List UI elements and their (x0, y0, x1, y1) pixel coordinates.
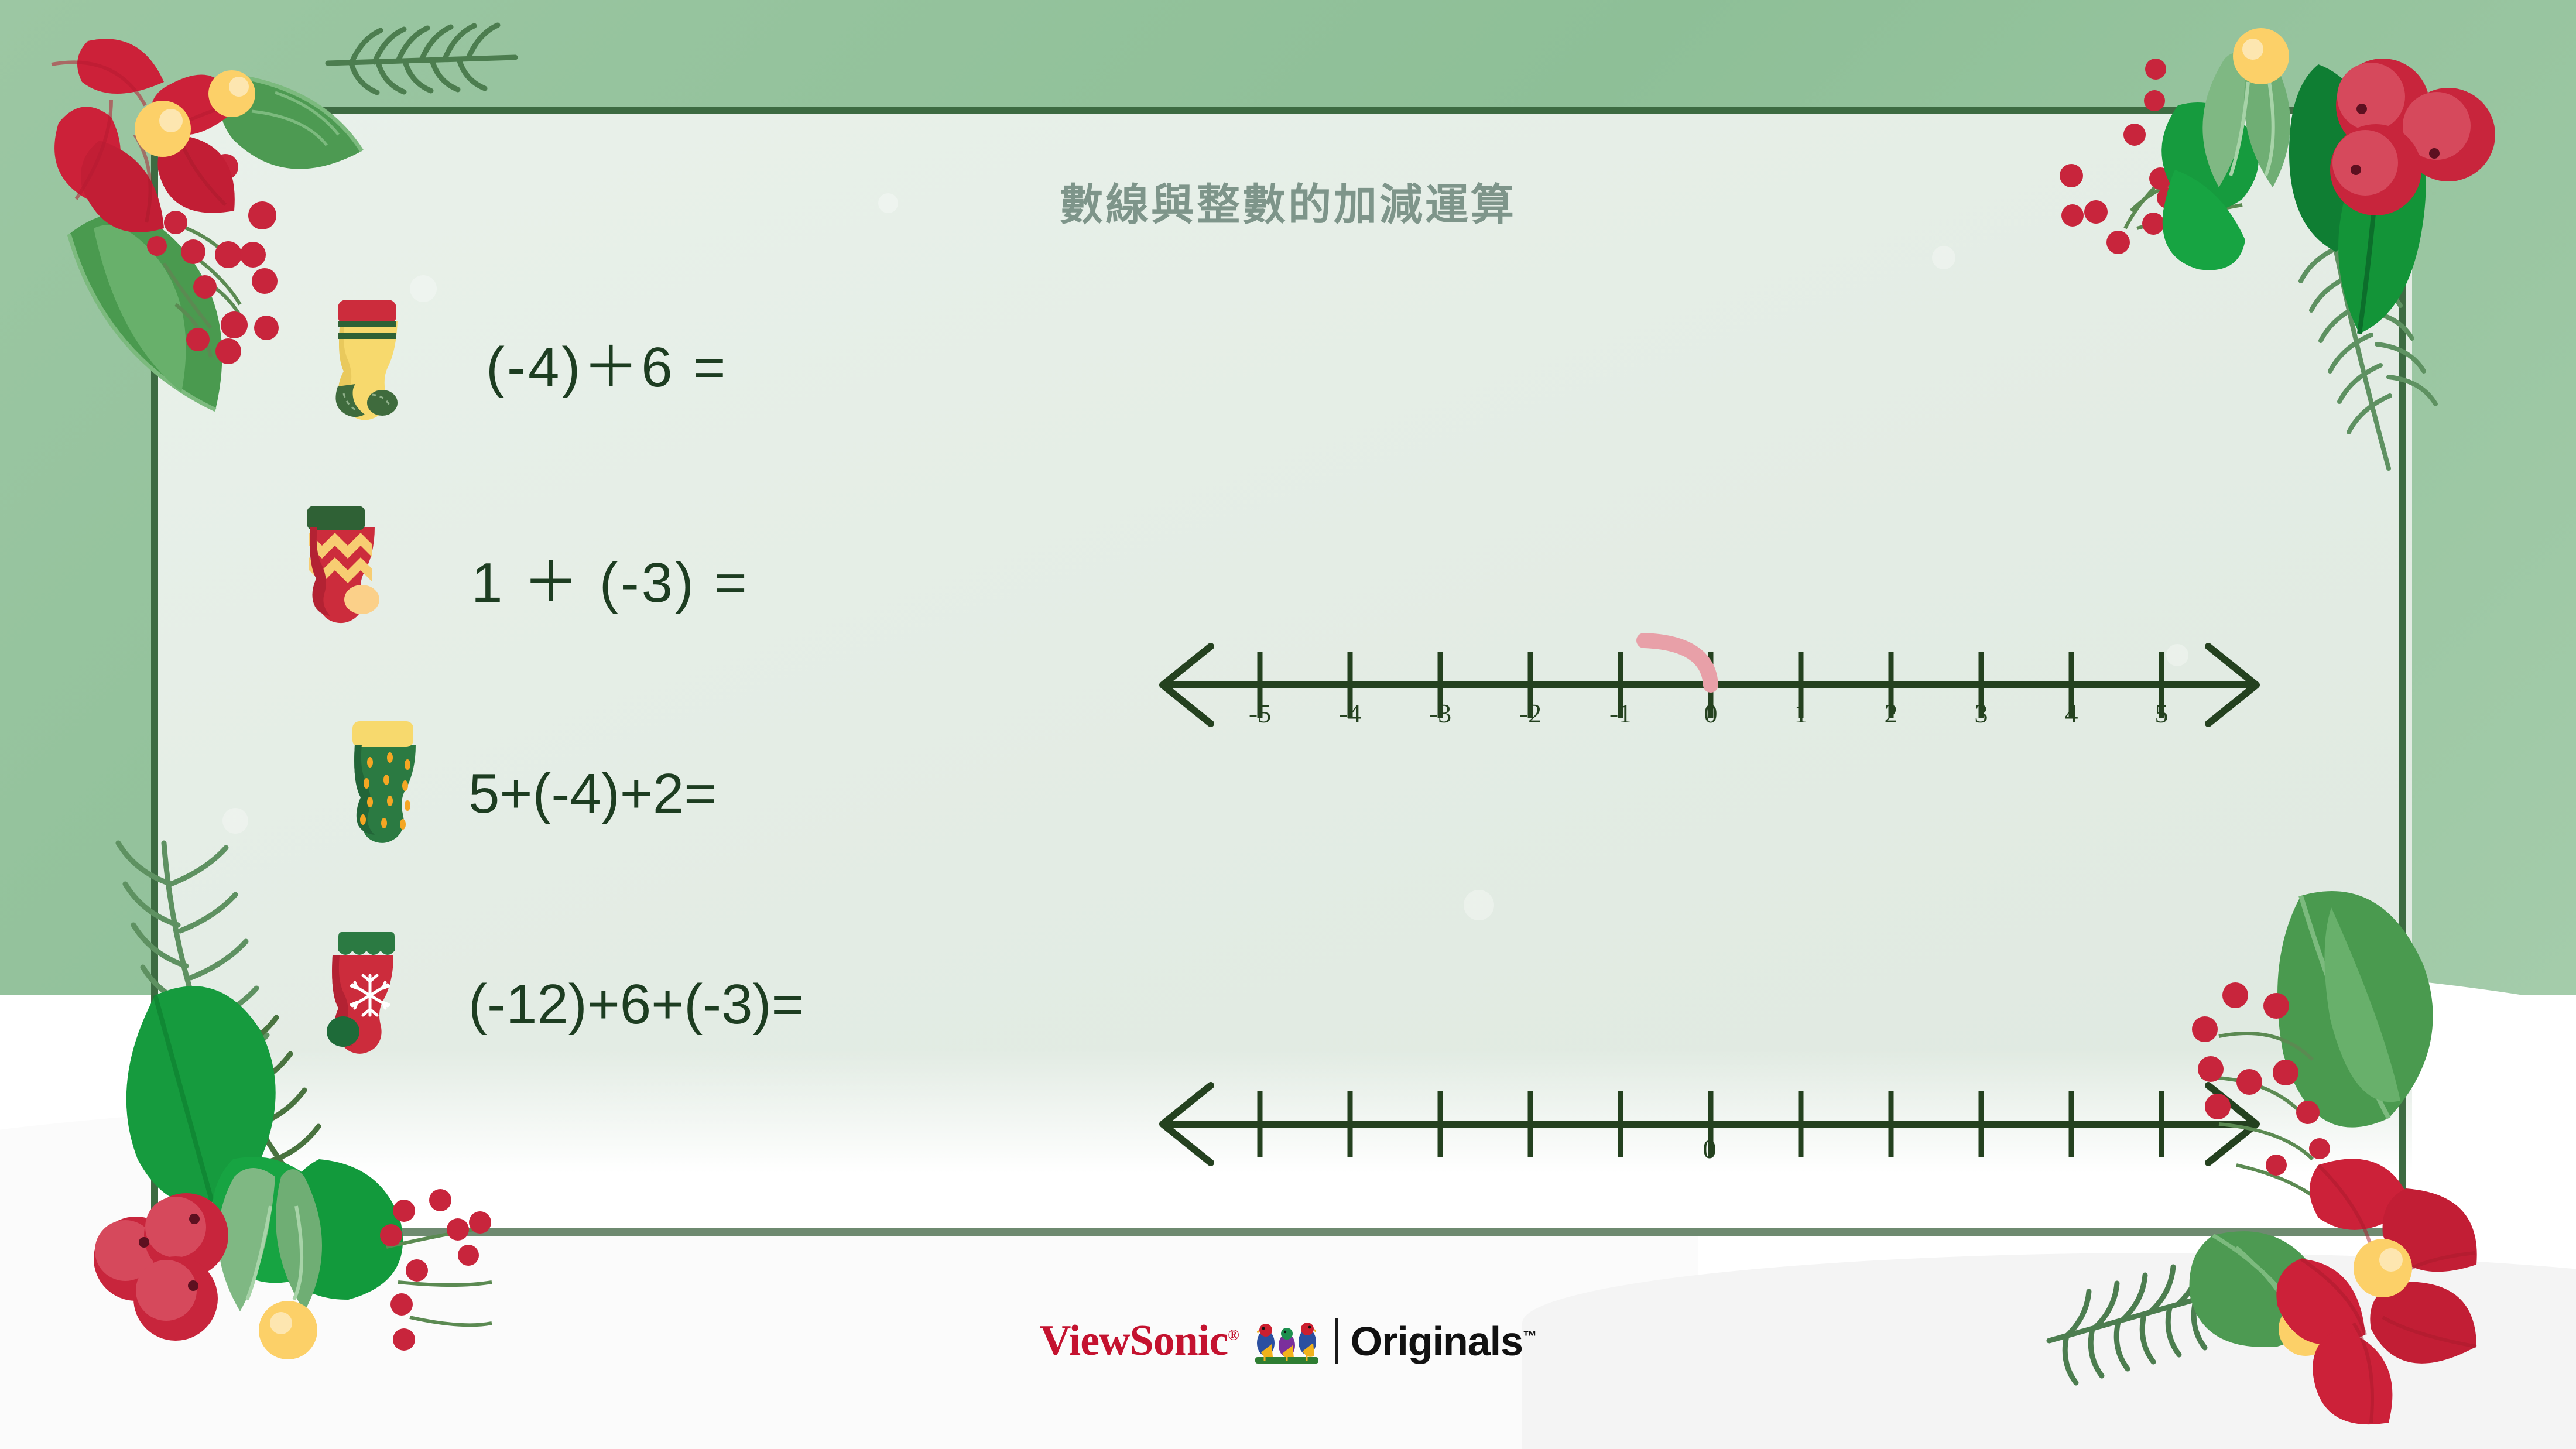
decoration-top-right (2055, 0, 2576, 477)
tick-label: -1 (1609, 698, 1632, 729)
trademark-mark: ™ (1523, 1328, 1536, 1344)
tick-label: -3 (1429, 698, 1451, 729)
tick-label: -2 (1519, 698, 1542, 729)
gouldian-finch-logo-icon (1252, 1318, 1322, 1364)
viewsonic-wordmark: ViewSonic® (1040, 1316, 1239, 1366)
tick-label: 4 (2065, 698, 2078, 729)
tick-label-zero: 0 (1703, 1133, 1717, 1164)
bokeh-dot (1464, 890, 1494, 920)
slide-canvas: 數線與整數的加減運算 (-4)＋6 = (0, 0, 2576, 1449)
originals-wordmark: Originals™ (1351, 1318, 1536, 1365)
logo-divider (1335, 1318, 1338, 1364)
bokeh-dot (1932, 246, 1955, 269)
problem-row: 1 ＋ (-3) = (0, 527, 2576, 662)
tick-label: 0 (1704, 698, 1718, 729)
footer-logo: ViewSonic® Originals™ (0, 1316, 2576, 1366)
equation-text: 1 ＋ (-3) = (471, 555, 749, 611)
tick-label: 3 (1975, 698, 1988, 729)
tick-label: -5 (1249, 698, 1271, 729)
stocking-green-dotted-icon (328, 708, 445, 843)
viewsonic-brand-text: ViewSonic (1040, 1317, 1228, 1365)
tick-label: -4 (1339, 698, 1361, 729)
registered-mark: ® (1228, 1326, 1238, 1343)
equation-text: 5+(-4)+2= (468, 766, 717, 822)
stocking-red-zigzag-icon (287, 492, 404, 626)
decoration-top-left (0, 0, 527, 471)
tick-label: 1 (1794, 698, 1808, 729)
originals-text: Originals (1351, 1318, 1523, 1364)
tick-label: 2 (1885, 698, 1898, 729)
tick-label: 5 (2155, 698, 2169, 729)
